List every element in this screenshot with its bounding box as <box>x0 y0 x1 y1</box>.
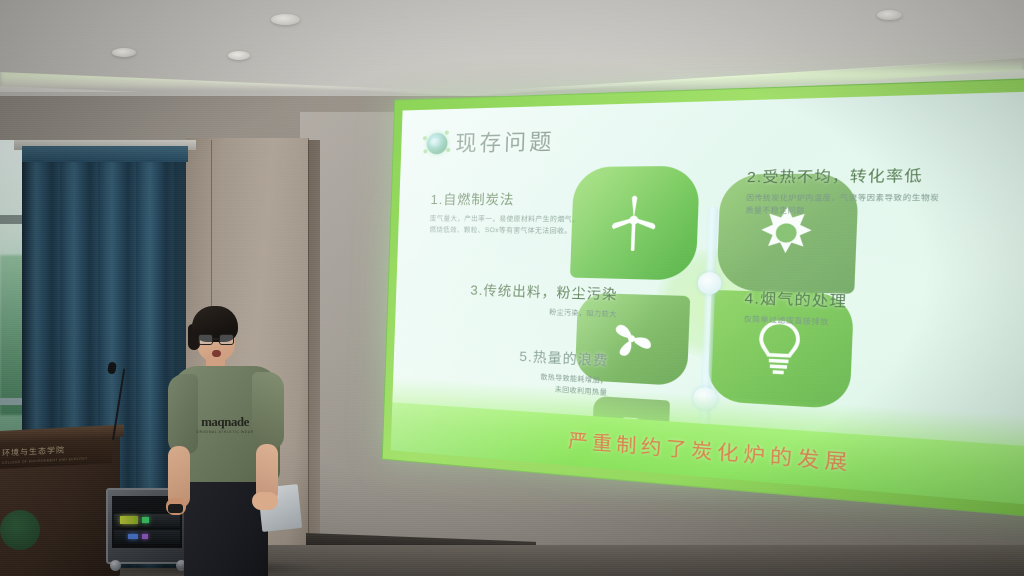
slide-item-2-heading: 2.受热不均，转化率低 <box>747 163 941 186</box>
petal-wind-turbine <box>570 166 700 281</box>
slide-item-2-sub: 因传统炭化炉炉内温度，气流等因素导致的生物炭 质量不稳定问题 <box>745 192 939 218</box>
presentation-clicker <box>168 504 183 513</box>
presenter: maqnade ORIGINAL ATHLETIC WEAR <box>168 306 288 576</box>
slide-item-3-sub-line: 粉尘污染，阻力较大 <box>429 302 617 320</box>
glasses-icon <box>198 334 236 346</box>
wind-turbine-icon <box>607 192 661 253</box>
led-indicator-purple <box>142 534 148 539</box>
wall-panel-edge <box>308 140 320 568</box>
slide-item-1-heading: 1.自燃制炭法 <box>430 188 580 208</box>
slide-title-row: 现存问题 <box>426 125 555 158</box>
wall-panel-seam <box>308 138 309 568</box>
presenter-sleeve-right <box>252 372 284 450</box>
lectern-logo <box>0 510 40 550</box>
led-indicator-yellow <box>120 516 138 524</box>
shirt-print-main: maqnade <box>201 415 249 428</box>
downlight-icon <box>228 51 250 60</box>
slide-item-3-heading: 3.传统出料，粉尘污染 <box>429 278 618 303</box>
slide-item-3: 3.传统出料，粉尘污染 粉尘污染，阻力较大 <box>429 278 618 321</box>
slide-item-1-sub: 废气量大，产出率一，易使原材料产生的烟气， 燃烧低效、颗粒、SOx等有害气体无法… <box>429 213 579 237</box>
presenter-hand-right <box>252 492 278 510</box>
slide-item-4-heading: 4.烟气的处理 <box>744 286 848 311</box>
downlight-icon <box>271 14 300 25</box>
shirt-print-sub: ORIGINAL ATHLETIC WEAR <box>196 430 253 435</box>
slide-item-2: 2.受热不均，转化率低 因传统炭化炉炉内温度，气流等因素导致的生物炭 质量不稳定… <box>745 163 940 218</box>
projection-screen[interactable]: 现存问题 <box>382 75 1024 523</box>
led-indicator-blue <box>128 534 138 539</box>
curtain-header <box>22 146 188 162</box>
fan-propeller-icon <box>607 315 656 362</box>
slide-item-1-sub-line: 燃烧低效、颗粒、SOx等有害气体无法回收。 <box>429 224 579 237</box>
slide-item-4: 4.烟气的处理 仅简单过滤或直接排放 <box>744 286 848 329</box>
slide-item-2-sub-line: 因传统炭化炉炉内温度，气流等因素导致的生物炭 <box>746 192 940 205</box>
slide-item-2-sub-line: 质量不稳定问题 <box>745 205 939 218</box>
presentation-room-photo: 现存问题 <box>0 0 1024 576</box>
shirt-graphic-print: maqnade ORIGINAL ATHLETIC WEAR <box>192 412 258 438</box>
downlight-icon <box>877 10 902 20</box>
slide-item-1: 1.自燃制炭法 废气量大，产出率一，易使原材料产生的烟气， 燃烧低效、颗粒、SO… <box>429 188 580 237</box>
slide-title: 现存问题 <box>455 125 555 158</box>
downlight-icon <box>112 48 136 57</box>
presenter-mouth <box>212 350 221 357</box>
slide-content: 现存问题 <box>391 89 1024 509</box>
slide-item-3-sub: 粉尘污染，阻力较大 <box>429 302 617 320</box>
globe-earth-icon <box>426 132 448 154</box>
led-indicator-green <box>142 517 149 523</box>
